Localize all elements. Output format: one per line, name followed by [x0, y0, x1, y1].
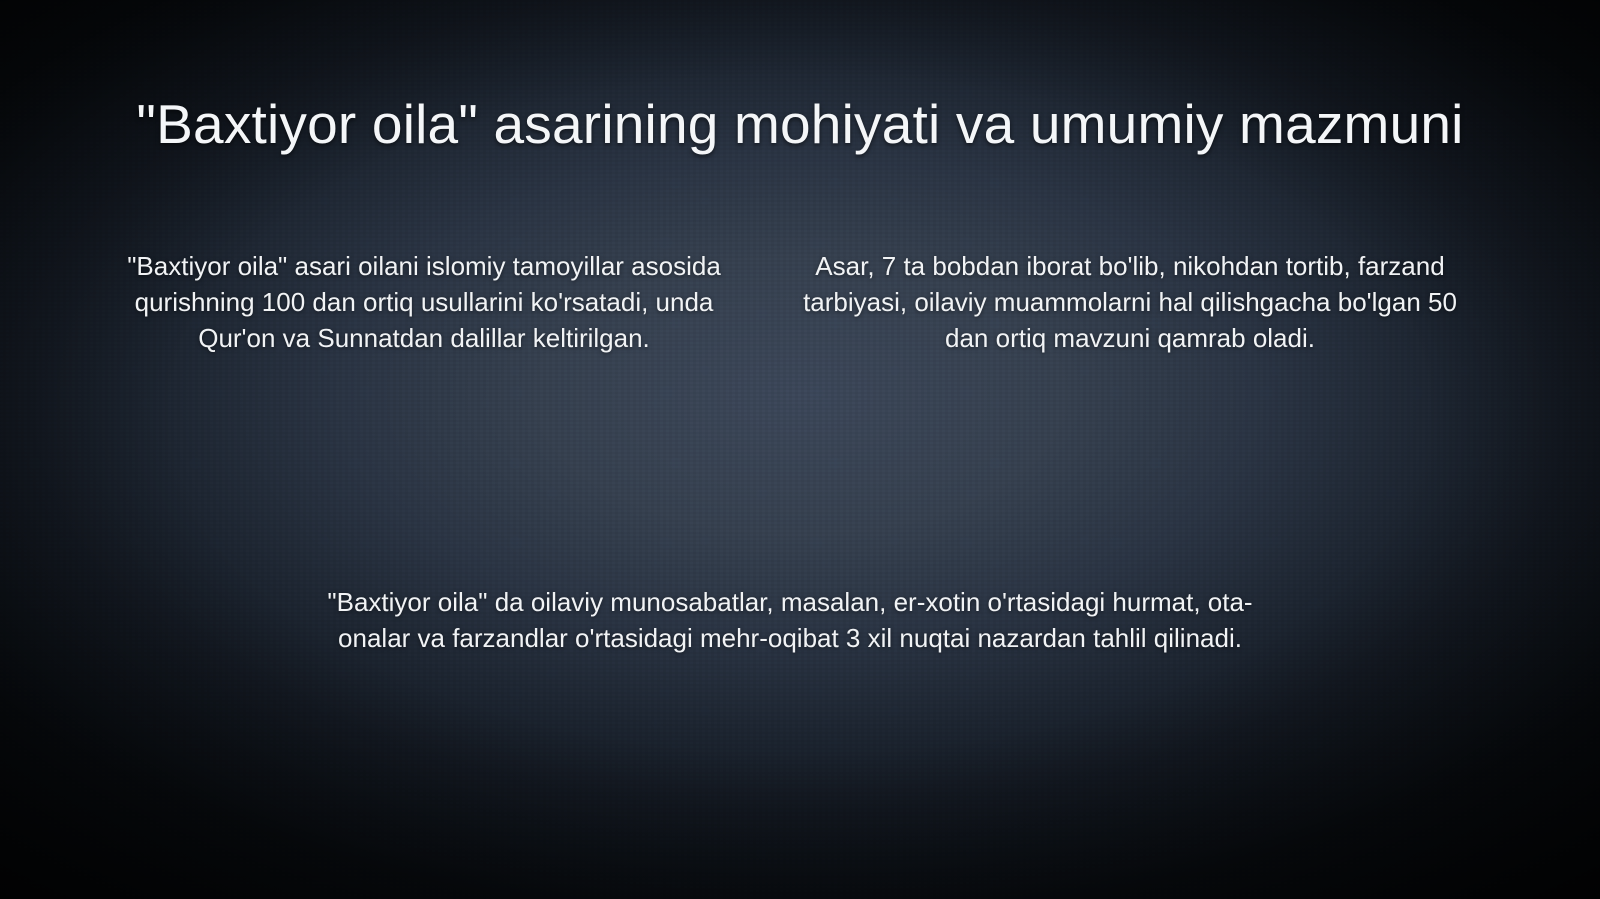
slide-title: "Baxtiyor oila" asarining mohiyati va um…: [0, 90, 1600, 158]
presentation-slide: "Baxtiyor oila" asarining mohiyati va um…: [0, 0, 1600, 899]
slide-content: "Baxtiyor oila" asarining mohiyati va um…: [0, 0, 1600, 899]
text-block-bottom: "Baxtiyor oila" da oilaviy munosabatlar,…: [300, 584, 1280, 656]
text-block-left: "Baxtiyor oila" asari oilani islomiy tam…: [104, 248, 744, 356]
text-block-right: Asar, 7 ta bobdan iborat bo'lib, nikohda…: [786, 248, 1474, 356]
